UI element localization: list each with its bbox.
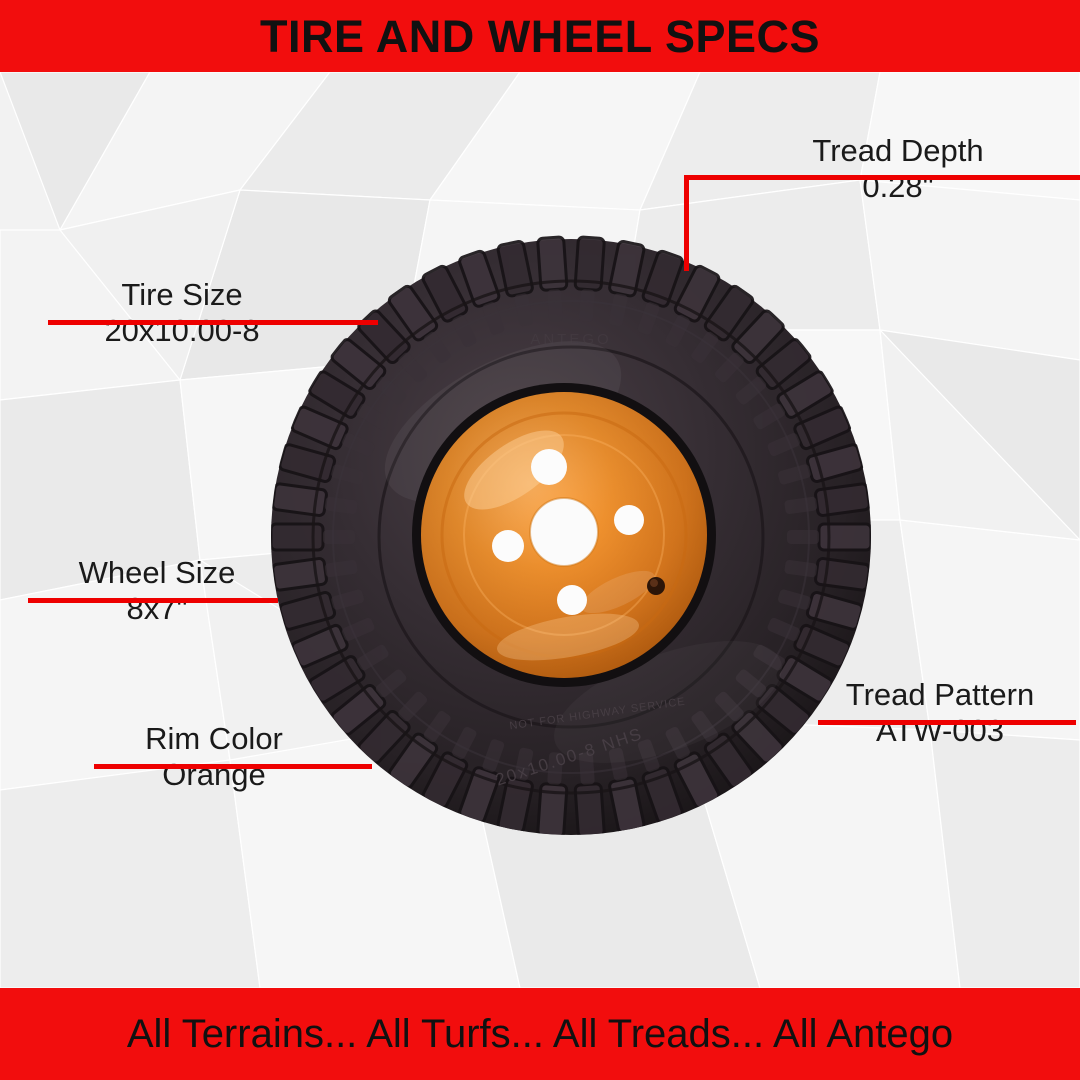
callout-tread-depth-leader bbox=[684, 175, 689, 271]
callout-tread-depth: Tread Depth 0.28" bbox=[748, 134, 1048, 204]
callout-rim-color-value: Orange bbox=[92, 757, 336, 793]
callout-wheel-size-label: Wheel Size bbox=[26, 556, 288, 591]
callout-tread-depth-label: Tread Depth bbox=[748, 134, 1048, 169]
callout-wheel-size: Wheel Size 8x7" bbox=[26, 556, 288, 626]
footer-bar: All Terrains... All Turfs... All Treads.… bbox=[0, 988, 1080, 1080]
callout-tire-size-label: Tire Size bbox=[44, 278, 320, 313]
page-title: TIRE AND WHEEL SPECS bbox=[260, 14, 820, 59]
callout-tire-size-value: 20x10.00-8 bbox=[44, 313, 320, 349]
header-bar: TIRE AND WHEEL SPECS bbox=[0, 0, 1080, 72]
tire-specs-infographic: TIRE AND WHEEL SPECS bbox=[0, 0, 1080, 1080]
callout-tread-depth-rule bbox=[684, 175, 1080, 180]
callout-rim-color-label: Rim Color bbox=[92, 722, 336, 757]
callout-tread-pattern-rule bbox=[818, 720, 1076, 725]
footer-tagline: All Terrains... All Turfs... All Treads.… bbox=[127, 1014, 953, 1054]
callout-tread-pattern: Tread Pattern ATW-003 bbox=[818, 678, 1062, 748]
callout-tire-size-rule bbox=[48, 320, 378, 325]
svg-text:ANTEGO: ANTEGO bbox=[530, 331, 611, 348]
callout-tire-size: Tire Size 20x10.00-8 bbox=[44, 278, 320, 348]
callout-rim-color-rule bbox=[94, 764, 372, 769]
callout-rim-color: Rim Color Orange bbox=[92, 722, 336, 792]
callout-tread-pattern-label: Tread Pattern bbox=[818, 678, 1062, 713]
callout-wheel-size-value: 8x7" bbox=[26, 591, 288, 627]
callout-tread-pattern-value: ATW-003 bbox=[818, 713, 1062, 749]
callout-wheel-size-rule bbox=[28, 598, 278, 603]
